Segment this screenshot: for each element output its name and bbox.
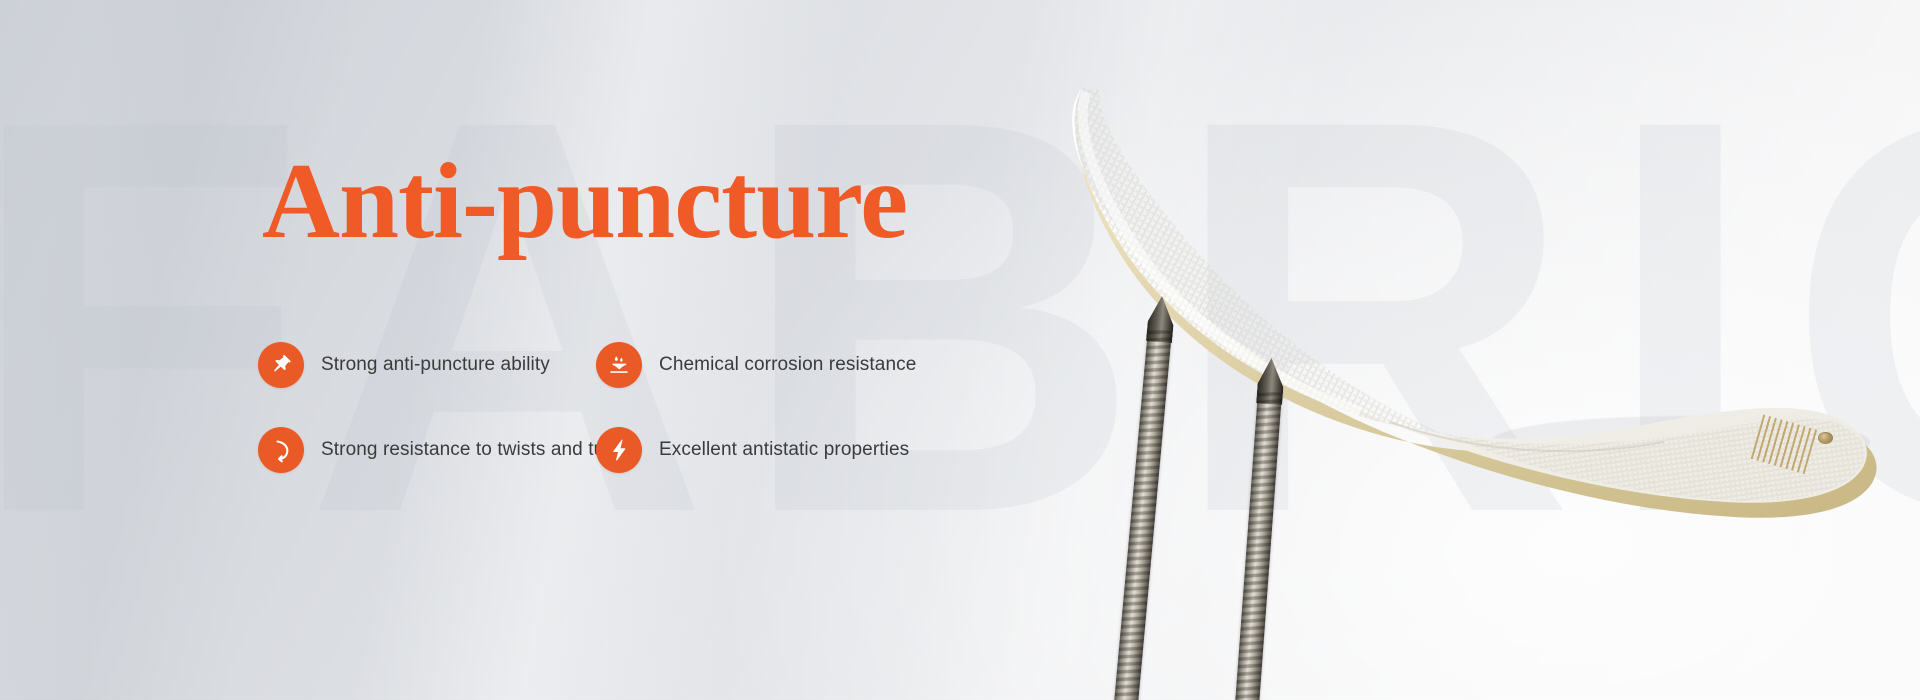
feature-item-antistatic: Excellent antistatic properties (596, 427, 1018, 473)
rotate-twist-icon (258, 427, 304, 473)
feature-label: Strong anti-puncture ability (321, 354, 550, 376)
feature-list: Strong anti-puncture ability Chemical co… (258, 342, 1018, 473)
lightning-bolt-icon (596, 427, 642, 473)
feature-item-chemical-corrosion: Chemical corrosion resistance (596, 342, 1018, 388)
banner-stage: FABRIC (0, 0, 1920, 700)
corrosion-drop-icon (596, 342, 642, 388)
feature-item-anti-puncture: Strong anti-puncture ability (258, 342, 596, 388)
sole-eyelet (1818, 432, 1833, 444)
feature-label: Excellent antistatic properties (659, 439, 909, 461)
copy-block: Anti-puncture Strong anti-puncture abili… (0, 0, 1100, 700)
feature-label: Strong resistance to twists and turns (321, 439, 631, 461)
product-image (1020, 0, 1920, 700)
pushpin-icon (258, 342, 304, 388)
page-title: Anti-puncture (262, 148, 907, 256)
feature-item-twist-resistance: Strong resistance to twists and turns (258, 427, 596, 473)
insole-shape (1060, 70, 1880, 540)
feature-label: Chemical corrosion resistance (659, 354, 916, 376)
